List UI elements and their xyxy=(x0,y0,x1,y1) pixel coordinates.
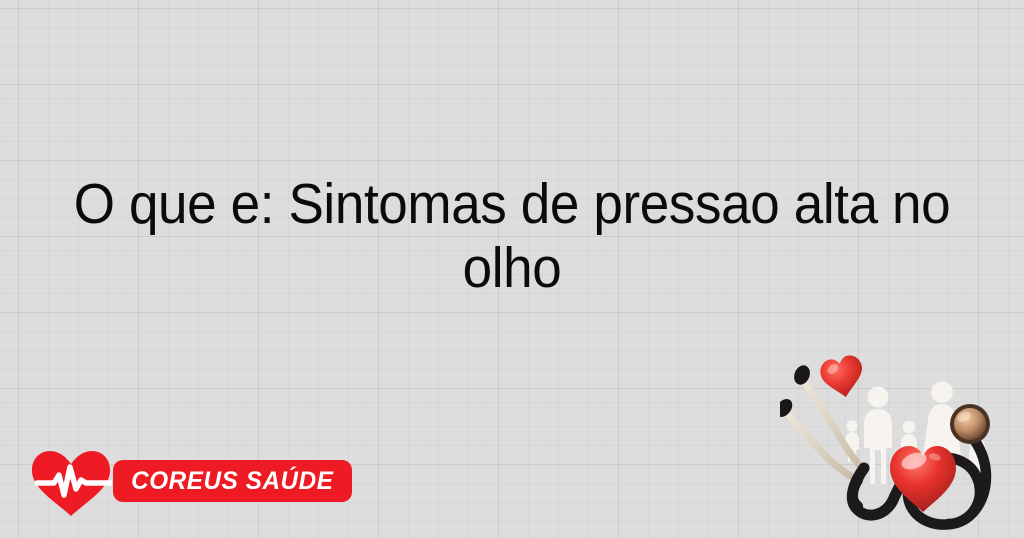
page-title: O que e: Sintomas de pressao alta no olh… xyxy=(28,172,996,300)
brand-badge: COREUS SAÚDE xyxy=(113,460,352,502)
title-text: O que e: Sintomas de pressao alta no olh… xyxy=(62,172,962,300)
large-glossy-heart-icon xyxy=(890,446,956,512)
health-care-illustration xyxy=(780,348,1024,538)
image-canvas: O que e: Sintomas de pressao alta no olh… xyxy=(0,0,1024,538)
brand-logo[interactable]: COREUS SAÚDE xyxy=(30,449,352,517)
heart-with-ecg-icon xyxy=(30,449,112,517)
brand-name-label: COREUS SAÚDE xyxy=(131,467,333,496)
stethoscope-chestpiece-icon xyxy=(950,404,990,444)
small-heart-icon xyxy=(818,353,867,401)
